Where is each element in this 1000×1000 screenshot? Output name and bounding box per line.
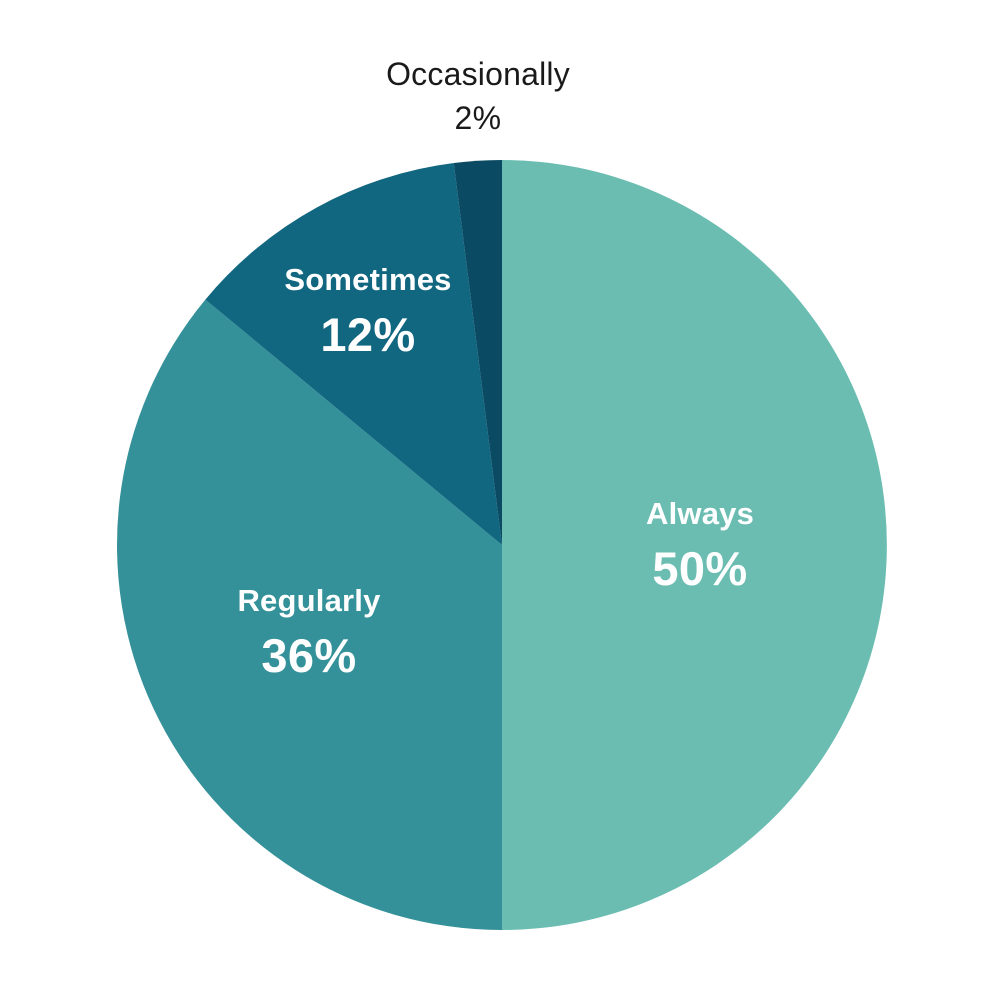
pie-chart-canvas — [0, 0, 1000, 1000]
pie-slices-group — [117, 160, 887, 930]
pie-slice-always — [502, 160, 887, 930]
pie-chart: Always 50% Regularly 36% Sometimes 12% O… — [0, 0, 1000, 1000]
